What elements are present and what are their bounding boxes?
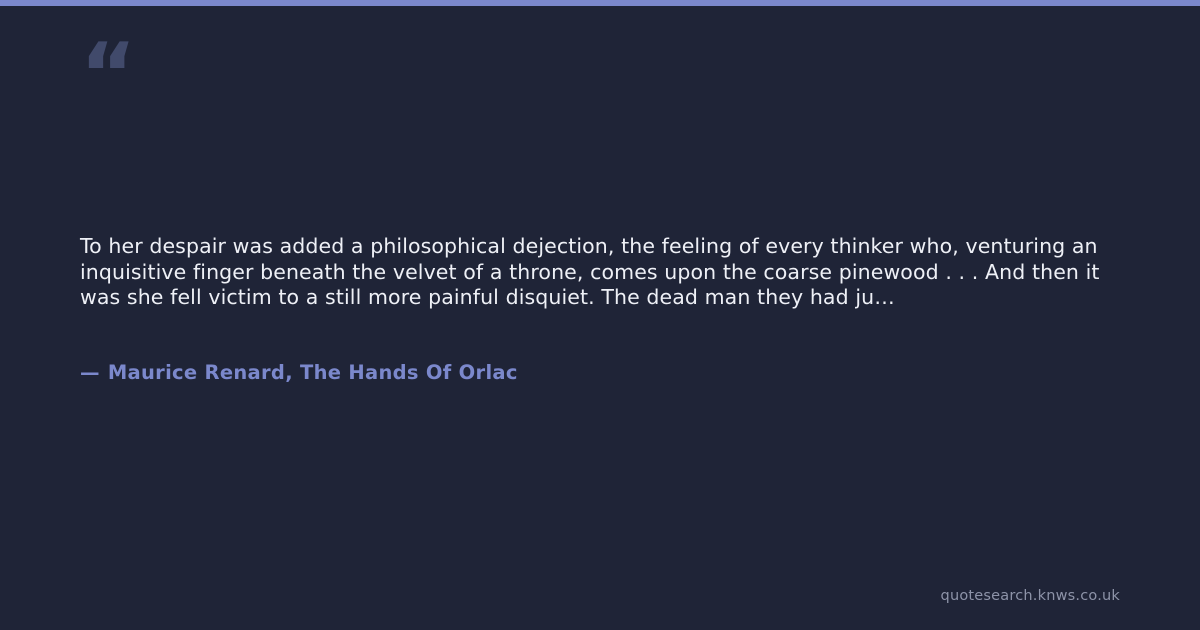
em-dash-icon: — — [80, 361, 100, 384]
quote-text: To her despair was added a philosophical… — [80, 234, 1115, 311]
opening-quote-icon: “ — [80, 32, 137, 118]
attribution-label: Maurice Renard, The Hands Of Orlac — [108, 361, 518, 384]
quote-card: “ To her despair was added a philosophic… — [0, 6, 1200, 630]
footer-source-url: quotesearch.knws.co.uk — [941, 588, 1120, 604]
quote-attribution: —Maurice Renard, The Hands Of Orlac — [80, 361, 518, 384]
